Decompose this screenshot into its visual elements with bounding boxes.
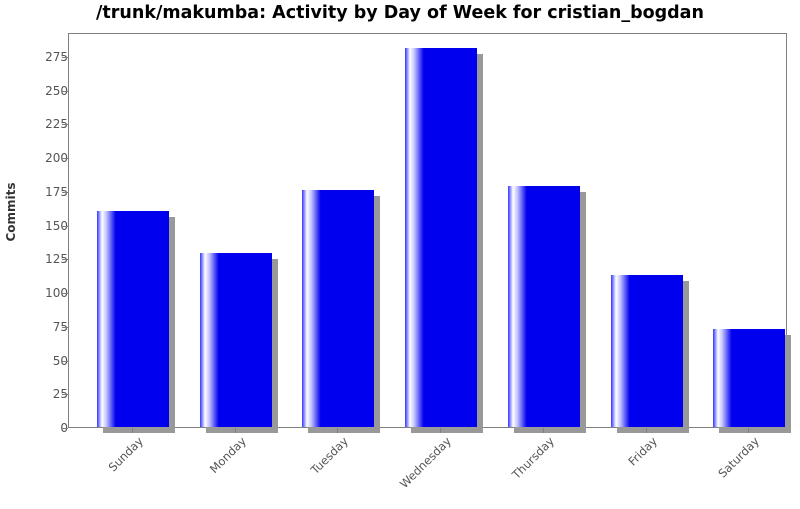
bar-friday[interactable] <box>611 275 689 427</box>
bar-saturday[interactable] <box>713 329 791 427</box>
bar-body <box>97 211 169 427</box>
bar-body <box>508 186 580 427</box>
x-axis-tick-mark <box>748 428 749 433</box>
y-axis-tick-label: 150 <box>14 219 68 233</box>
x-axis-tick-label-monday: Monday <box>174 434 249 509</box>
x-axis-tick-mark <box>646 428 647 433</box>
bar-monday[interactable] <box>200 253 278 427</box>
x-axis-tick-mark <box>440 428 441 433</box>
x-axis-tick-label-wednesday: Wednesday <box>379 434 454 509</box>
x-axis-tick-label-tuesday: Tuesday <box>276 434 351 509</box>
y-axis-tick-label: 125 <box>14 252 68 266</box>
bar-body <box>302 190 374 427</box>
x-axis-tick-label-sunday: Sunday <box>71 434 146 509</box>
bar-thursday[interactable] <box>508 186 586 427</box>
y-axis-ticks: 0255075100125150175200225250275 <box>0 0 68 500</box>
plot-area <box>68 33 787 428</box>
y-axis-tick-label: 225 <box>14 117 68 131</box>
y-axis-tick-label: 0 <box>14 421 68 435</box>
bars-layer <box>69 34 786 427</box>
x-axis-tick-label-saturday: Saturday <box>687 434 762 509</box>
x-axis-tick-label-thursday: Thursday <box>482 434 557 509</box>
y-axis-tick-label: 50 <box>14 354 68 368</box>
bar-tuesday[interactable] <box>302 190 380 427</box>
y-axis-tick-mark <box>62 428 68 429</box>
y-axis-tick-label: 75 <box>14 320 68 334</box>
y-axis-tick-label: 175 <box>14 185 68 199</box>
y-axis-tick-label: 250 <box>14 84 68 98</box>
bar-body <box>405 48 477 427</box>
y-axis-tick-label: 100 <box>14 286 68 300</box>
x-axis-tick-mark <box>132 428 133 433</box>
x-axis-tick-mark <box>543 428 544 433</box>
y-axis-tick-label: 25 <box>14 387 68 401</box>
bar-body <box>200 253 272 427</box>
bar-body <box>611 275 683 427</box>
x-axis-tick-mark <box>337 428 338 433</box>
bar-wednesday[interactable] <box>405 48 483 427</box>
x-axis-tick-label-friday: Friday <box>585 434 660 509</box>
y-axis-tick-label: 200 <box>14 151 68 165</box>
chart-title: /trunk/makumba: Activity by Day of Week … <box>0 3 800 23</box>
bar-body <box>713 329 785 427</box>
x-axis-tick-mark <box>235 428 236 433</box>
y-axis-tick-label: 275 <box>14 50 68 64</box>
bar-sunday[interactable] <box>97 211 175 427</box>
activity-by-day-of-week-chart: /trunk/makumba: Activity by Day of Week … <box>0 0 800 500</box>
